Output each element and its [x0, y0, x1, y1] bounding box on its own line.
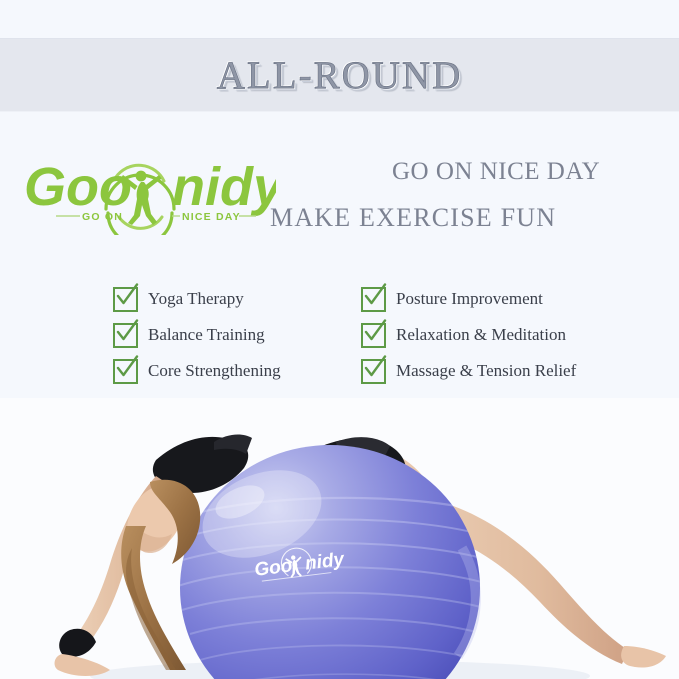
feature-label: Balance Training — [148, 325, 265, 345]
feature-label: Yoga Therapy — [148, 289, 244, 309]
feature-list: Yoga Therapy Balance Training Core Stren… — [0, 281, 679, 391]
feature-item: Core Strengthening — [113, 353, 281, 389]
feature-column-left: Yoga Therapy Balance Training Core Stren… — [113, 281, 281, 389]
feature-column-right: Posture Improvement Relaxation & Meditat… — [361, 281, 576, 389]
checkbox-checked-icon — [361, 323, 386, 348]
header-band: ALL-ROUND — [0, 38, 679, 112]
feature-label: Relaxation & Meditation — [396, 325, 566, 345]
tagline-primary: GO ON NICE DAY — [392, 158, 600, 186]
logo-subtext-right: NICE DAY — [182, 211, 241, 223]
feature-label: Massage & Tension Relief — [396, 361, 576, 381]
feature-item: Balance Training — [113, 317, 281, 353]
feature-item: Posture Improvement — [361, 281, 576, 317]
logo-subtext-left: GO ON — [82, 211, 123, 223]
product-infographic: ALL-ROUND Goo nidy GO — [0, 0, 679, 679]
checkbox-checked-icon — [361, 287, 386, 312]
feature-item: Massage & Tension Relief — [361, 353, 576, 389]
logo-word-goo: Goo — [24, 157, 132, 217]
checkbox-checked-icon — [113, 323, 138, 348]
checkbox-checked-icon — [361, 359, 386, 384]
logo-word-nidy: nidy — [172, 157, 276, 217]
feature-item: Relaxation & Meditation — [361, 317, 576, 353]
checkbox-checked-icon — [113, 287, 138, 312]
product-photo: Goo nidy — [0, 398, 679, 679]
tagline-secondary: MAKE EXERCISE FUN — [270, 203, 556, 233]
checkbox-checked-icon — [113, 359, 138, 384]
feature-label: Posture Improvement — [396, 289, 543, 309]
brand-logo: Goo nidy GO ON NICE DAY — [24, 143, 276, 235]
page-title: ALL-ROUND — [217, 53, 462, 98]
feature-item: Yoga Therapy — [113, 281, 281, 317]
feature-label: Core Strengthening — [148, 361, 281, 381]
